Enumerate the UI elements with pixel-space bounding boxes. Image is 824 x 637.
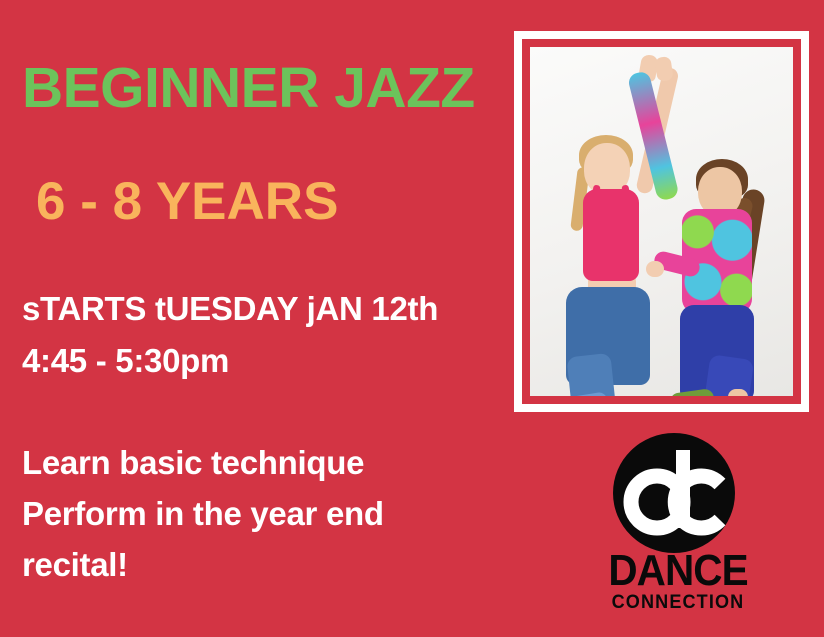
- description-block: Learn basic technique Perform in the yea…: [22, 437, 384, 590]
- schedule-time: 4:45 - 5:30pm: [22, 335, 438, 387]
- description-line-2: Perform in the year end: [22, 488, 384, 539]
- dc-monogram-icon: [612, 432, 736, 554]
- logo-wordmark: DANCE CONNECTION: [588, 550, 768, 614]
- left-dancer-pink-top: [583, 189, 639, 281]
- dance-connection-logo: DANCE CONNECTION: [588, 432, 768, 632]
- photo-frame: [514, 31, 809, 412]
- dancers-photo: [530, 47, 793, 396]
- right-dancer-lower-hand: [646, 261, 664, 277]
- right-dancer-ankle: [728, 389, 748, 396]
- age-range-label: 6 - 8 YEARS: [36, 175, 338, 228]
- logo-name-primary: DANCE: [595, 550, 761, 592]
- description-line-3: recital!: [22, 539, 384, 590]
- logo-name-secondary: CONNECTION: [593, 592, 764, 614]
- flyer-poster: BEGINNER JAZZ 6 - 8 YEARS sTARTS tUESDAY…: [0, 0, 824, 637]
- schedule-start-date: sTARTS tUESDAY jAN 12th: [22, 283, 438, 335]
- description-line-1: Learn basic technique: [22, 437, 384, 488]
- photo-frame-accent: [522, 39, 801, 404]
- schedule-block: sTARTS tUESDAY jAN 12th 4:45 - 5:30pm: [22, 283, 438, 387]
- left-dancer-jeans-leg: [566, 353, 617, 396]
- page-title: BEGINNER JAZZ: [22, 60, 475, 117]
